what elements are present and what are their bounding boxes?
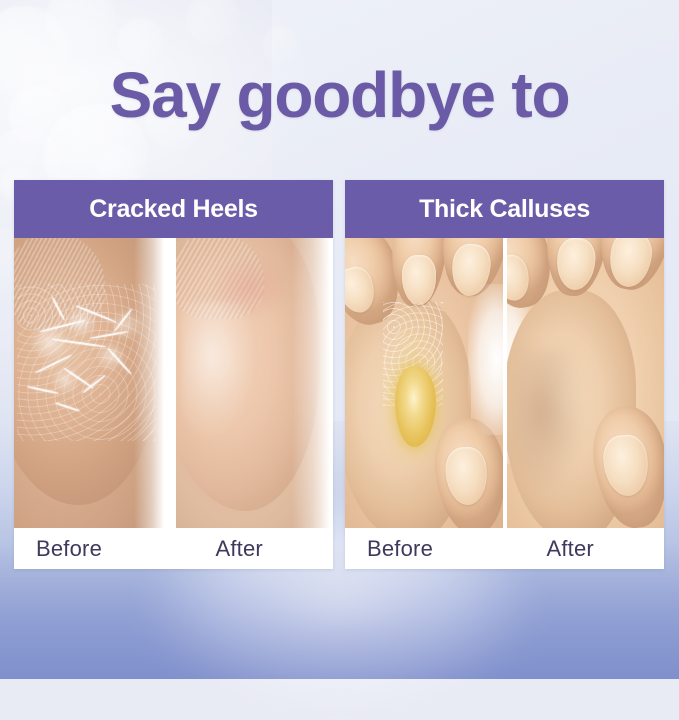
label-after: After bbox=[174, 536, 334, 562]
photo-cracked-heel-before bbox=[14, 238, 172, 528]
before-after-card-group: Cracked Heels bbox=[14, 180, 665, 569]
photo-cracked-heel-after bbox=[176, 238, 334, 528]
label-row-thick-calluses: Before After bbox=[345, 528, 664, 569]
photo-callus-after bbox=[507, 238, 665, 528]
label-before: Before bbox=[14, 536, 174, 562]
card-banner-cracked-heels: Cracked Heels bbox=[14, 180, 333, 238]
card-cracked-heels: Cracked Heels bbox=[14, 180, 333, 569]
label-row-cracked-heels: Before After bbox=[14, 528, 333, 569]
label-after: After bbox=[505, 536, 665, 562]
page-title: Say goodbye to bbox=[0, 50, 679, 140]
heel-sheen-highlight bbox=[182, 302, 254, 435]
label-before: Before bbox=[345, 536, 505, 562]
card-thick-calluses: Thick Calluses bbox=[345, 180, 664, 569]
photo-callus-before bbox=[345, 238, 503, 528]
photo-pair-thick-calluses bbox=[345, 238, 664, 528]
photo-pair-cracked-heels bbox=[14, 238, 333, 528]
card-banner-thick-calluses: Thick Calluses bbox=[345, 180, 664, 238]
heel-dry-zone bbox=[20, 290, 152, 435]
foot-shadow bbox=[510, 348, 582, 487]
